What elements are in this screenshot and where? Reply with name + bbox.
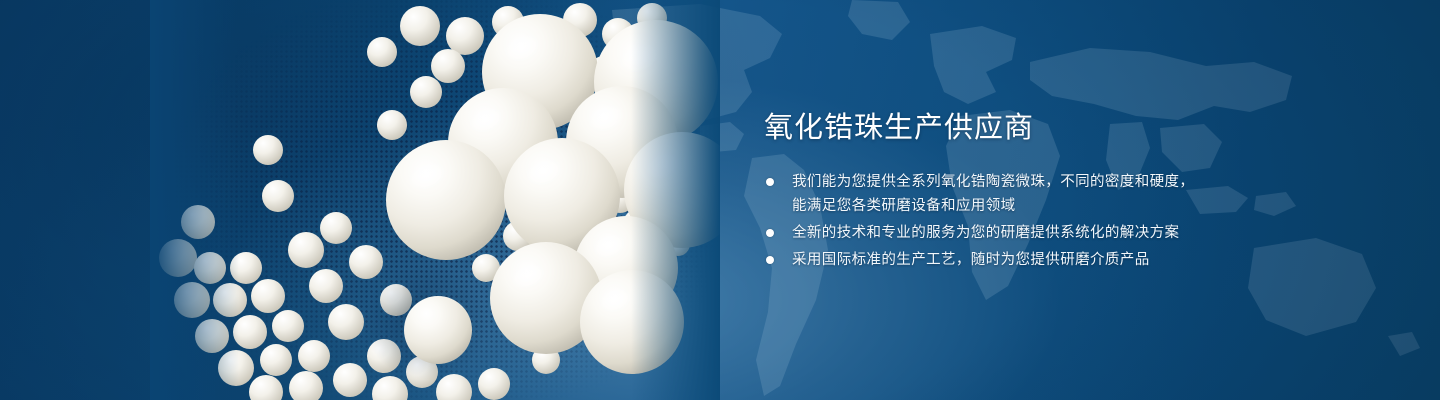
product-image-zirconia-beads [150,0,720,400]
image-fade-left [150,0,239,400]
banner-bullet-list: 我们能为您提供全系列氧化锆陶瓷微珠，不同的密度和硬度， 能满足您各类研磨设备和应… [764,170,1384,272]
bullet-dot-icon [766,256,774,264]
banner-copy: 氧化锆珠生产供应商 我们能为您提供全系列氧化锆陶瓷微珠，不同的密度和硬度， 能满… [764,108,1384,275]
bullet-dot-icon [766,229,774,237]
bullet-item: 全新的技术和专业的服务为您的研磨提供系统化的解决方案 [764,221,1384,245]
banner-headline: 氧化锆珠生产供应商 [764,108,1384,148]
bullet-dot-icon [766,178,774,186]
bullet-item: 采用国际标准的生产工艺，随时为您提供研磨介质产品 [764,248,1384,272]
bullet-text-line-1: 采用国际标准的生产工艺，随时为您提供研磨介质产品 [792,252,1150,268]
bullet-text-line-2: 能满足您各类研磨设备和应用领域 [792,194,1384,218]
hero-banner: 氧化锆珠生产供应商 我们能为您提供全系列氧化锆陶瓷微珠，不同的密度和硬度， 能满… [0,0,1440,400]
bullet-item: 我们能为您提供全系列氧化锆陶瓷微珠，不同的密度和硬度， 能满足您各类研磨设备和应… [764,170,1384,218]
bullet-text-line-1: 全新的技术和专业的服务为您的研磨提供系统化的解决方案 [792,225,1179,241]
bullet-text-line-1: 我们能为您提供全系列氧化锆陶瓷微珠，不同的密度和硬度， [792,174,1194,190]
image-fade-right [631,0,720,400]
